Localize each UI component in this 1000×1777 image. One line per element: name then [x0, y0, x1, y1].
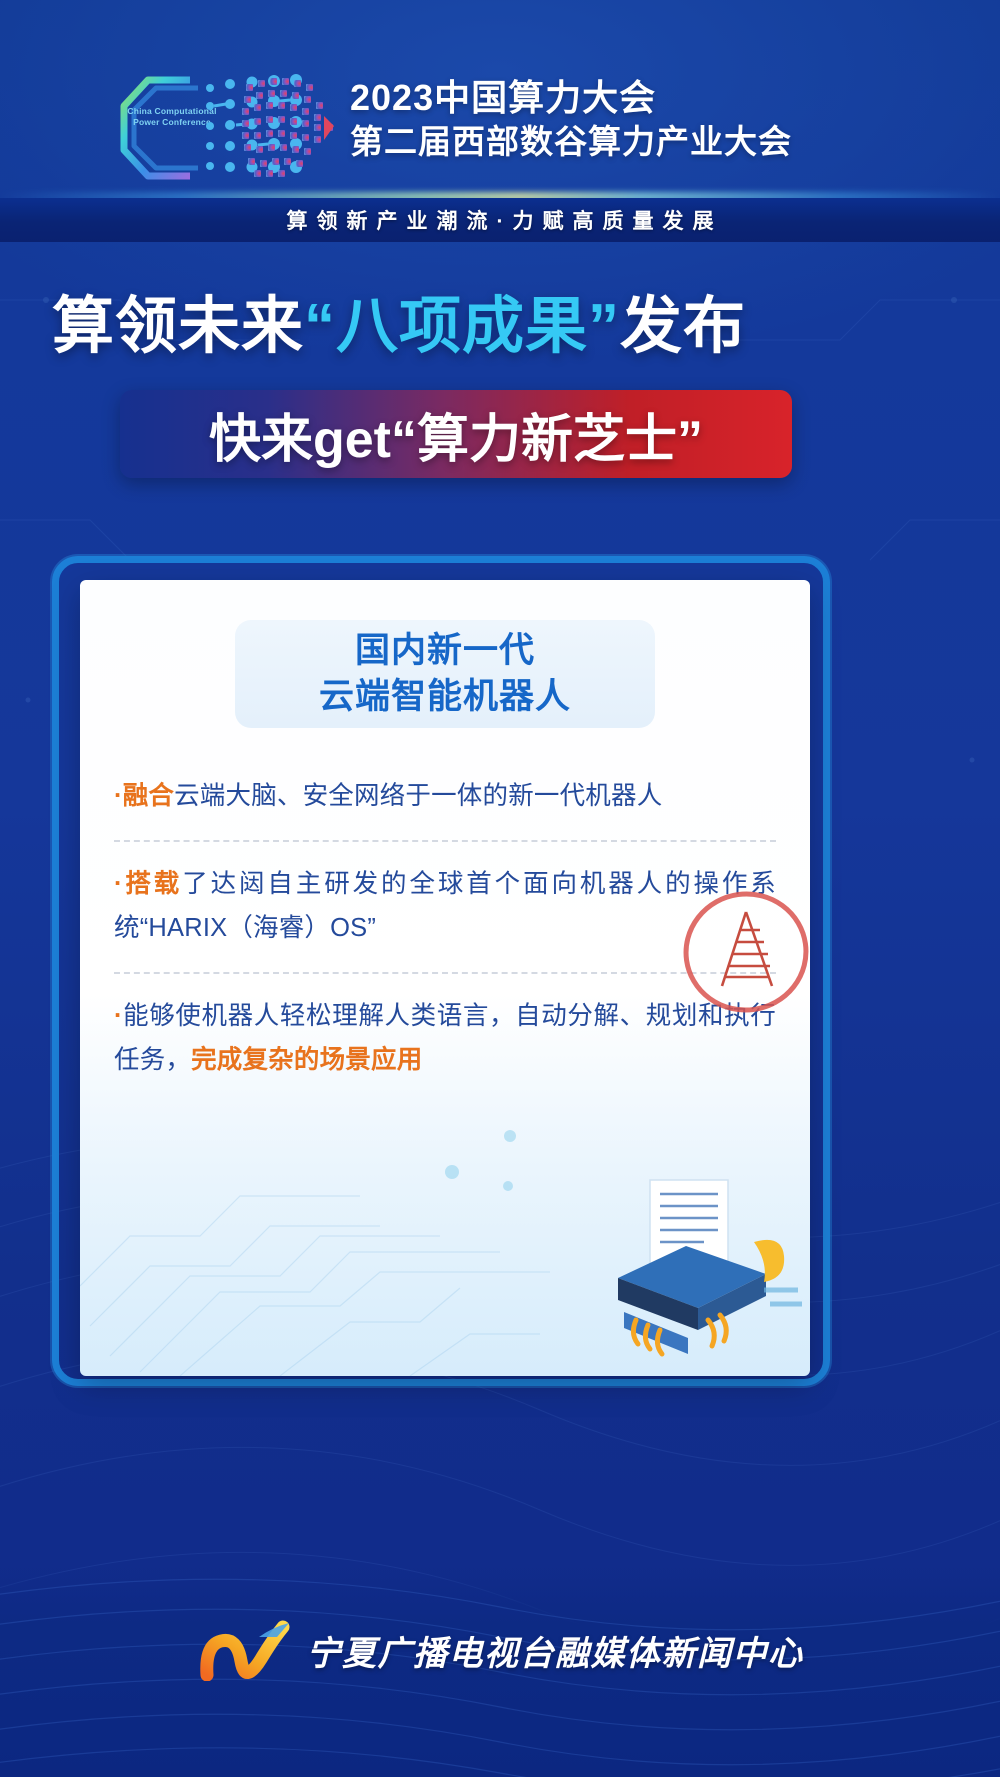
bullet-body: 云端大脑、安全网络于一体的新一代机器人: [174, 782, 662, 810]
card-heading-line2: 云端智能机器人: [319, 674, 571, 720]
radial-fan-icon: [240, 70, 368, 186]
conference-title: 2023中国算力大会 第二届西部数谷算力产业大会: [350, 76, 910, 164]
bullet-emphasis: 搭载: [123, 870, 183, 898]
list-item: ·能够使机器人轻松理解人类语言，自动分解、规划和执行任务，完成复杂的场景应用: [114, 972, 776, 1104]
conference-logo-group: China Computational Power Conference: [112, 66, 362, 186]
bullet-text-2: ·搭载了达闼自主研发的全球首个面向机器人的操作系统“HARIX（海睿）OS”: [114, 862, 776, 950]
tagline-band: 算领新产业潮流·力赋高质量发展: [0, 198, 1000, 244]
bullet-body: 了达闼自主研发的全球首个面向机器人的操作系统“HARIX（海睿）OS”: [114, 870, 776, 942]
tagline-text: 算领新产业潮流·力赋高质量发展: [278, 205, 723, 235]
card-heading: 国内新一代 云端智能机器人: [235, 620, 655, 728]
bullet-marker: ·: [114, 870, 123, 898]
page-header: China Computational Power Conference: [0, 0, 1000, 196]
achievement-card: 国内新一代 云端智能机器人 ·融合云端大脑、安全网络于一体的新一代机器人 ·搭载…: [80, 580, 810, 1376]
footer-organization-name: 宁夏广播电视台融媒体新闻中心: [307, 1626, 804, 1675]
main-title-prefix: 算领未来: [52, 292, 304, 361]
bullet-marker: ·: [114, 1002, 123, 1030]
bullet-emphasis: 完成复杂的场景应用: [191, 1046, 422, 1074]
bullet-text-3: ·能够使机器人轻松理解人类语言，自动分解、规划和执行任务，完成复杂的场景应用: [114, 994, 776, 1082]
main-title-suffix: 发布: [620, 292, 746, 361]
bullet-list: ·融合云端大脑、安全网络于一体的新一代机器人 ·搭载了达闼自主研发的全球首个面向…: [80, 728, 810, 1104]
sub-banner-text: 快来get“算力新芝士”: [120, 390, 792, 478]
hero-titles: 算领未来“八项成果”发布 快来get“算力新芝士”: [0, 290, 1000, 500]
list-item: ·搭载了达闼自主研发的全球首个面向机器人的操作系统“HARIX（海睿）OS”: [114, 840, 776, 972]
main-title: 算领未来“八项成果”发布: [52, 290, 952, 364]
nxtv-n-logo-icon: [197, 1619, 293, 1681]
conference-title-line1: 2023中国算力大会: [350, 76, 910, 120]
card-heading-line1: 国内新一代: [355, 628, 535, 674]
bullet-emphasis: 融合: [123, 782, 174, 810]
footer-brand: 宁夏广播电视台融媒体新闻中心: [0, 1619, 1000, 1681]
bullet-marker: ·: [114, 782, 123, 810]
conference-title-line2: 第二届西部数谷算力产业大会: [350, 120, 910, 164]
list-item: ·融合云端大脑、安全网络于一体的新一代机器人: [114, 754, 776, 840]
bullet-text-1: ·融合云端大脑、安全网络于一体的新一代机器人: [114, 774, 776, 818]
main-title-highlight: “八项成果”: [304, 292, 620, 361]
server-illustration-icon: [558, 1170, 808, 1370]
page-footer: 宁夏广播电视台融媒体新闻中心: [0, 1567, 1000, 1777]
